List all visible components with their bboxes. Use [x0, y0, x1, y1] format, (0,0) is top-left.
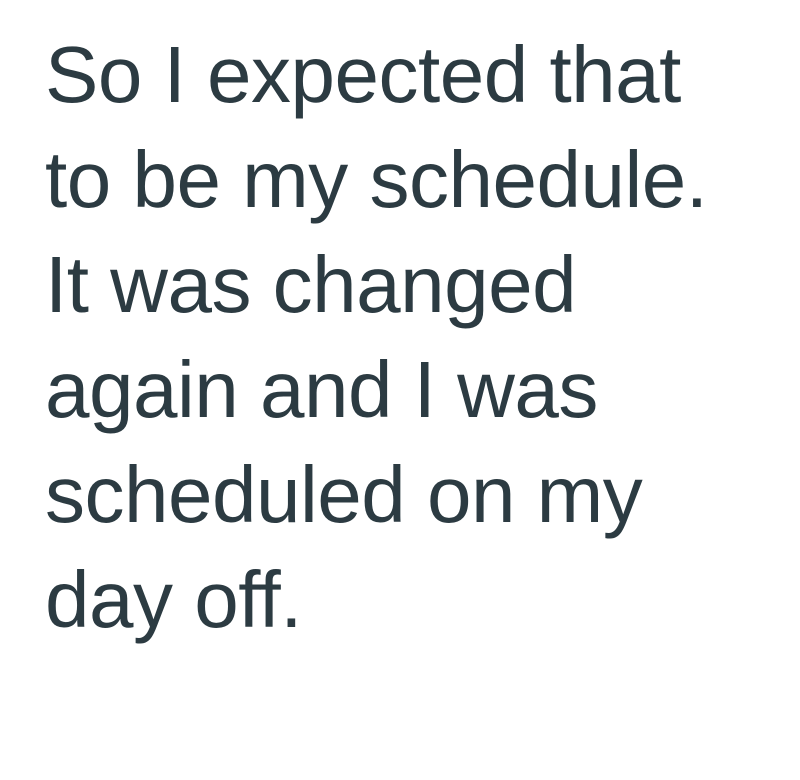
text-line: again and I was	[45, 337, 775, 442]
text-block: So I expected that to be my schedule. It…	[45, 22, 775, 652]
text-line: to be my schedule.	[45, 127, 775, 232]
text-line: scheduled on my	[45, 442, 775, 547]
image-canvas: So I expected that to be my schedule. It…	[0, 0, 800, 780]
text-line: So I expected that	[45, 22, 775, 127]
text-line: It was changed	[45, 232, 775, 337]
text-line: day off.	[45, 547, 775, 652]
